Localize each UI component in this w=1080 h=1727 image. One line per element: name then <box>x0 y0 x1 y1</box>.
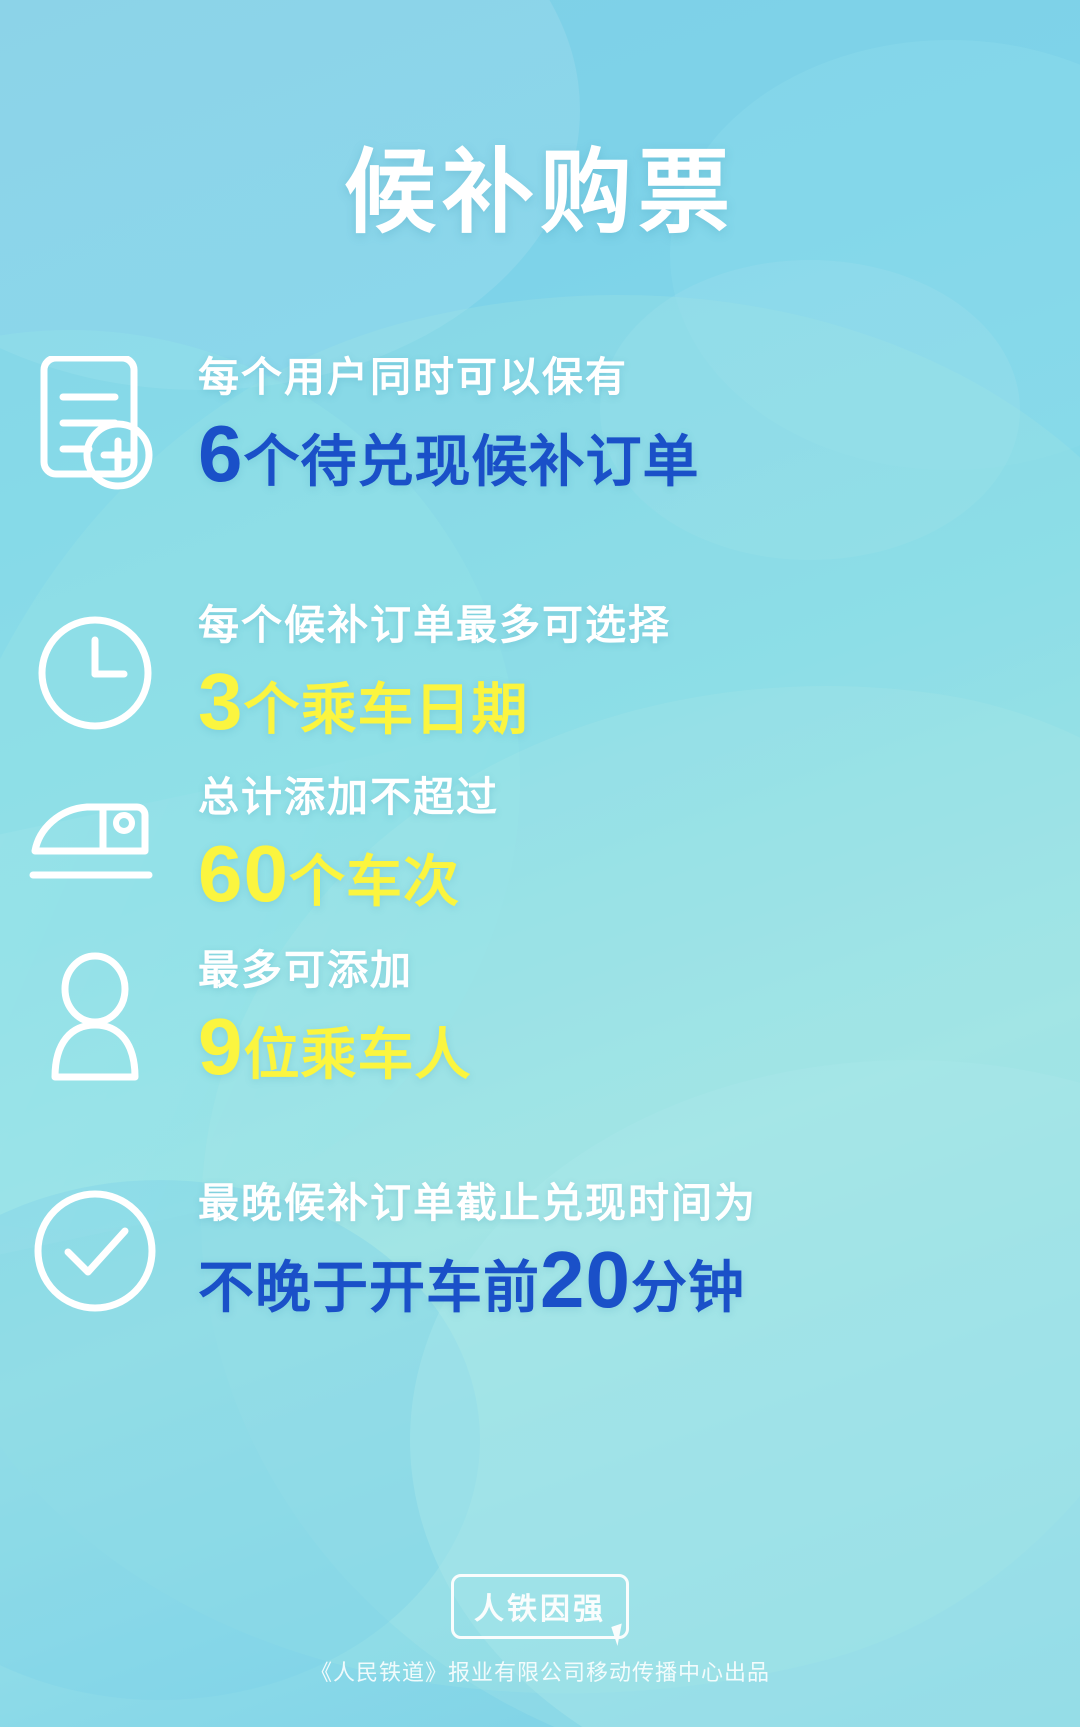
info-item-dates: 每个候补订单最多可选择 3个乘车日期 <box>0 600 1080 746</box>
info-item-value: 3个乘车日期 <box>198 662 671 746</box>
info-item-number: 60 <box>198 829 289 918</box>
info-item-unit: 个待兑现候补订单 <box>244 430 700 493</box>
info-item-value: 6个待兑现候补订单 <box>198 414 700 498</box>
info-item-unit: 分钟 <box>631 1256 745 1319</box>
train-icon <box>0 789 190 901</box>
info-item-orders: 每个用户同时可以保有 6个待兑现候补订单 <box>0 352 1080 498</box>
info-item-deadline: 最晚候补订单截止兑现时间为 不晚于开车前20分钟 <box>0 1178 1080 1324</box>
infographic-poster: 候补购票 每个用户同时可以保有 6个待兑现候补订单 <box>0 0 1080 1727</box>
info-item-value: 9位乘车人 <box>198 1007 472 1091</box>
info-item-caption: 最晚候补订单截止兑现时间为 <box>198 1178 757 1228</box>
info-item-unit: 个车次 <box>289 850 460 913</box>
info-item-number: 3 <box>198 657 244 746</box>
info-item-value: 60个车次 <box>198 834 499 918</box>
info-item-value: 不晚于开车前20分钟 <box>198 1240 757 1324</box>
check-circle-icon <box>0 1184 190 1318</box>
info-item-number: 6 <box>198 409 244 498</box>
info-item-caption: 总计添加不超过 <box>198 772 499 822</box>
credit-line: 《人民铁道》报业有限公司移动传播中心出品 <box>0 1655 1080 1687</box>
footer: 人铁因强 《人民铁道》报业有限公司移动传播中心出品 <box>0 1574 1080 1687</box>
info-item-caption: 每个候补订单最多可选择 <box>198 600 671 650</box>
info-item-unit: 位乘车人 <box>244 1023 472 1086</box>
brand-logo-text: 人铁因强 <box>474 1593 606 1626</box>
info-item-unit: 个乘车日期 <box>244 678 529 741</box>
info-item-number: 20 <box>540 1235 631 1324</box>
info-item-caption: 最多可添加 <box>198 945 472 995</box>
info-item-trains: 总计添加不超过 60个车次 <box>0 772 1080 918</box>
brand-logo: 人铁因强 <box>451 1574 629 1639</box>
page-title: 候补购票 <box>0 118 1080 251</box>
document-plus-icon <box>0 356 190 494</box>
cursor-icon <box>611 1622 632 1646</box>
person-icon <box>0 951 190 1085</box>
info-item-number: 9 <box>198 1002 244 1091</box>
info-item-caption: 每个用户同时可以保有 <box>198 352 700 402</box>
info-item-passengers: 最多可添加 9位乘车人 <box>0 945 1080 1091</box>
info-item-prefix: 不晚于开车前 <box>198 1256 540 1319</box>
clock-icon <box>0 610 190 736</box>
